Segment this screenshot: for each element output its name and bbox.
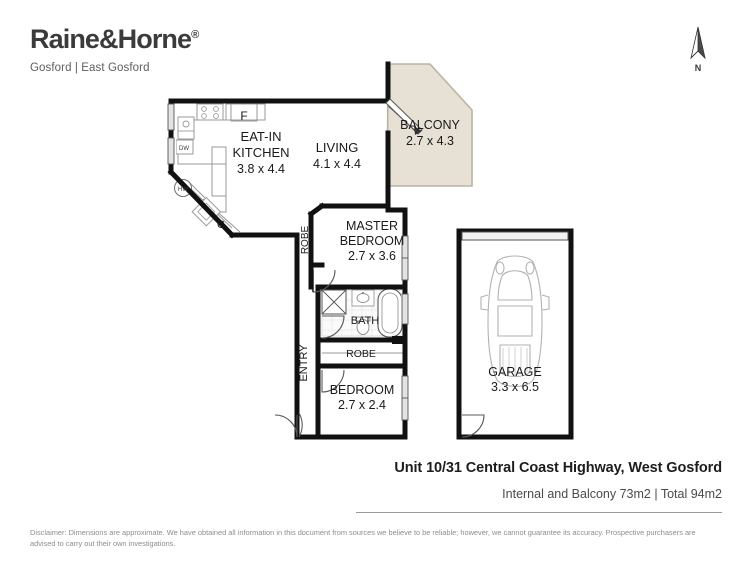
label-robe-hall: ROBE	[346, 348, 376, 360]
floorplan-drawing: EAT-IN KITCHEN 3.8 x 4.4 LIVING 4.1 x 4.…	[0, 0, 750, 562]
rotated-labels: ROBE ENTRY	[298, 226, 311, 382]
bathroom-fixtures	[322, 289, 405, 337]
room-bedroom2-dims: 2.7 x 2.4	[338, 398, 386, 412]
label-entry: ENTRY	[298, 344, 310, 382]
room-garage-name: GARAGE	[488, 365, 542, 379]
basin-icon	[352, 290, 374, 306]
shower-icon	[322, 290, 346, 314]
label-hot-water: HW	[178, 187, 188, 193]
cooktop-icon	[202, 107, 219, 119]
property-areas: Internal and Balcony 73m2 | Total 94m2	[502, 487, 722, 501]
room-living-name: LIVING	[316, 140, 359, 155]
room-master-dims: 2.7 x 3.6	[348, 249, 396, 263]
room-master-name2: BEDROOM	[340, 234, 405, 248]
sink-icon	[178, 117, 194, 139]
label-cupboard: C	[217, 219, 225, 231]
room-balcony-dims: 2.7 x 4.3	[406, 134, 454, 148]
wall-nib	[392, 336, 406, 344]
room-kitchen-dims: 3.8 x 4.4	[237, 162, 285, 176]
room-balcony-name: BALCONY	[400, 118, 460, 132]
bathtub-icon	[378, 289, 402, 337]
property-address: Unit 10/31 Central Coast Highway, West G…	[394, 460, 722, 476]
room-bath-name: BATH	[351, 315, 380, 327]
label-fridge: F	[240, 109, 247, 123]
room-living-dims: 4.1 x 4.4	[313, 157, 361, 171]
footer-divider	[356, 512, 722, 513]
floorplan-page: Raine&Horne® Gosford | East Gosford N	[0, 0, 750, 562]
room-kitchen-name: EAT-IN	[241, 129, 282, 144]
label-robe-master: ROBE	[300, 226, 311, 255]
room-master-name: MASTER	[346, 219, 398, 233]
disclaimer-text: Disclaimer: Dimensions are approximate. …	[30, 527, 708, 550]
room-bedroom2-name: BEDROOM	[330, 383, 395, 397]
room-garage-dims: 3.3 x 6.5	[491, 380, 539, 394]
label-dishwasher: DW	[179, 146, 189, 152]
room-kitchen-name2: KITCHEN	[232, 145, 289, 160]
